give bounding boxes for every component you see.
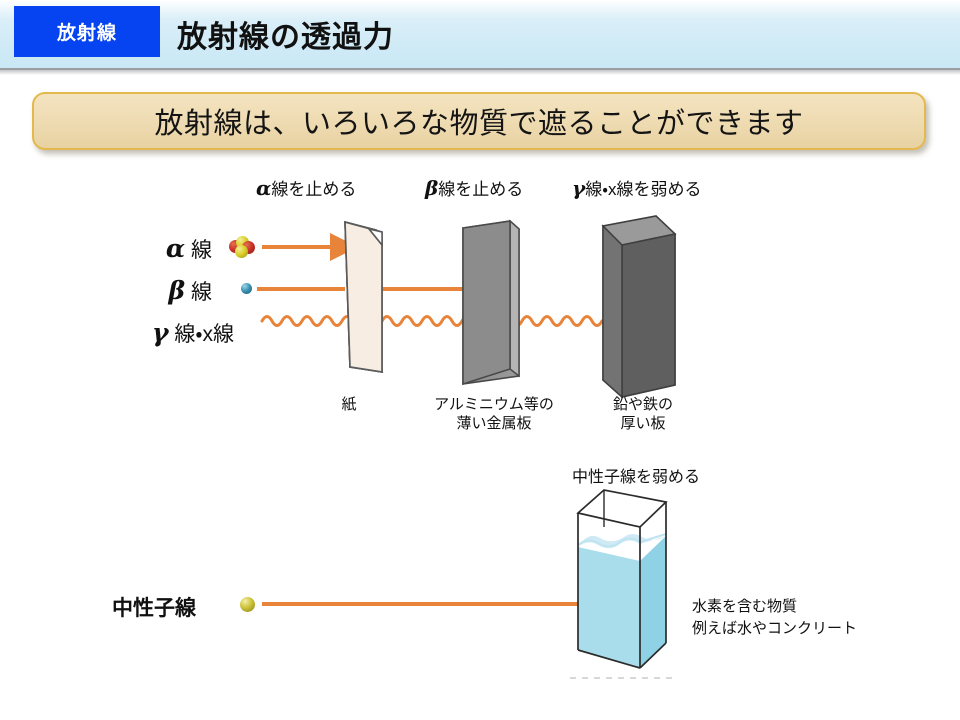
category-badge-label: 放射線 (57, 18, 117, 45)
subtitle-banner-wrap: 放射線は、いろいろな物質で遮ることができます (32, 92, 926, 150)
caption-aluminum-line1: アルミニウム等の (414, 395, 574, 414)
slide-canvas: 放射線 放射線の透過力 放射線は、いろいろな物質で遮ることができます α線を止め… (0, 0, 960, 720)
barrier-purpose-beta: β線を止める (425, 175, 523, 200)
ray-label-gamma-text: 線・x線 (169, 323, 234, 346)
water-tank (570, 490, 672, 678)
aluminum-barrier (463, 221, 519, 384)
ray-label-gamma: γ 線・x線 (48, 318, 234, 348)
greek-alpha-top: α (256, 176, 271, 200)
ray-label-beta: β 線 (60, 276, 212, 306)
lead-barrier (603, 216, 675, 397)
caption-lead: 鉛や鉄の 厚い板 (583, 395, 703, 433)
barrier-purpose-alpha-text: 線を止める (271, 180, 356, 199)
header-divider (0, 68, 960, 75)
barrier-purpose-alpha: α線を止める (256, 175, 356, 200)
caption-water-tank-line2: 例えば水やコンクリート (692, 618, 857, 640)
slide-header: 放射線 放射線の透過力 (0, 0, 960, 68)
barrier-purpose-gamma-text: 線・x線を弱める (585, 180, 701, 199)
barrier-purpose-gamma: γ線・x線を弱める (572, 175, 701, 200)
barrier-purpose-beta-text: 線を止める (438, 180, 523, 199)
beta-dot-icon (241, 283, 252, 294)
subtitle-banner-text: 放射線は、いろいろな物質で遮ることができます (154, 100, 803, 142)
subtitle-banner: 放射線は、いろいろな物質で遮ることができます (32, 92, 926, 150)
greek-gamma-top: γ (572, 176, 585, 200)
neutron-dot-icon (240, 597, 255, 612)
greek-beta-top: β (425, 176, 438, 200)
greek-beta: β (169, 276, 186, 305)
page-title: 放射線の透過力 (177, 12, 394, 56)
caption-water-tank-line1: 水素を含む物質 (692, 596, 857, 618)
ray-label-beta-text: 線 (185, 281, 212, 304)
caption-water-tank: 水素を含む物質 例えば水やコンクリート (692, 596, 857, 640)
neutron-purpose-label: 中性子線を弱める (572, 463, 700, 487)
caption-aluminum: アルミニウム等の 薄い金属板 (414, 395, 574, 433)
caption-paper: 紙 (304, 395, 394, 414)
caption-paper-line1: 紙 (304, 395, 394, 414)
paper-barrier (345, 222, 382, 372)
ray-label-alpha: α 線 (60, 234, 212, 264)
caption-lead-line1: 鉛や鉄の (583, 395, 703, 414)
alpha-cluster-icon (229, 236, 255, 258)
greek-gamma: γ (152, 318, 169, 347)
gamma-ray-wave (262, 317, 640, 326)
ray-label-alpha-text: 線 (185, 239, 212, 262)
caption-lead-line2: 厚い板 (583, 414, 703, 433)
neutron-ray-label: 中性子線 (112, 592, 196, 622)
caption-aluminum-line2: 薄い金属板 (414, 414, 574, 433)
greek-alpha: α (166, 234, 185, 263)
category-badge: 放射線 (14, 6, 160, 57)
